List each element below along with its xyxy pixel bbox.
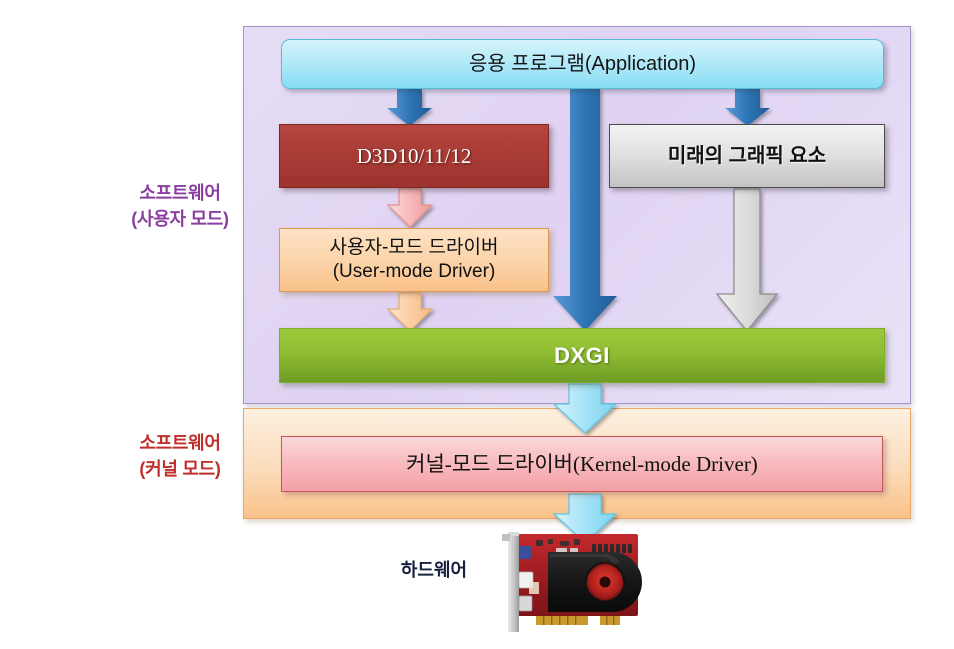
label-software-user-mode: 소프트웨어 (사용자 모드): [96, 180, 264, 232]
label-software-kernel-mode: 소프트웨어 (커널 모드): [96, 430, 264, 482]
label-hardware: 하드웨어: [374, 556, 494, 582]
box-user-mode-driver[interactable]: 사용자-모드 드라이버 (User-mode Driver): [279, 228, 549, 292]
box-d3d[interactable]: D3D10/11/12: [279, 124, 549, 188]
box-kernel-mode-driver[interactable]: 커널-모드 드라이버(Kernel-mode Driver): [281, 436, 883, 492]
box-dxgi[interactable]: DXGI: [279, 328, 885, 383]
box-future-graphics[interactable]: 미래의 그래픽 요소: [609, 124, 885, 188]
box-application[interactable]: 응용 프로그램(Application): [281, 39, 884, 89]
gpu-card-image: [496, 530, 642, 634]
diagram-canvas: 소프트웨어 (사용자 모드) 소프트웨어 (커널 모드) 하드웨어 응용 프로그…: [0, 0, 954, 649]
